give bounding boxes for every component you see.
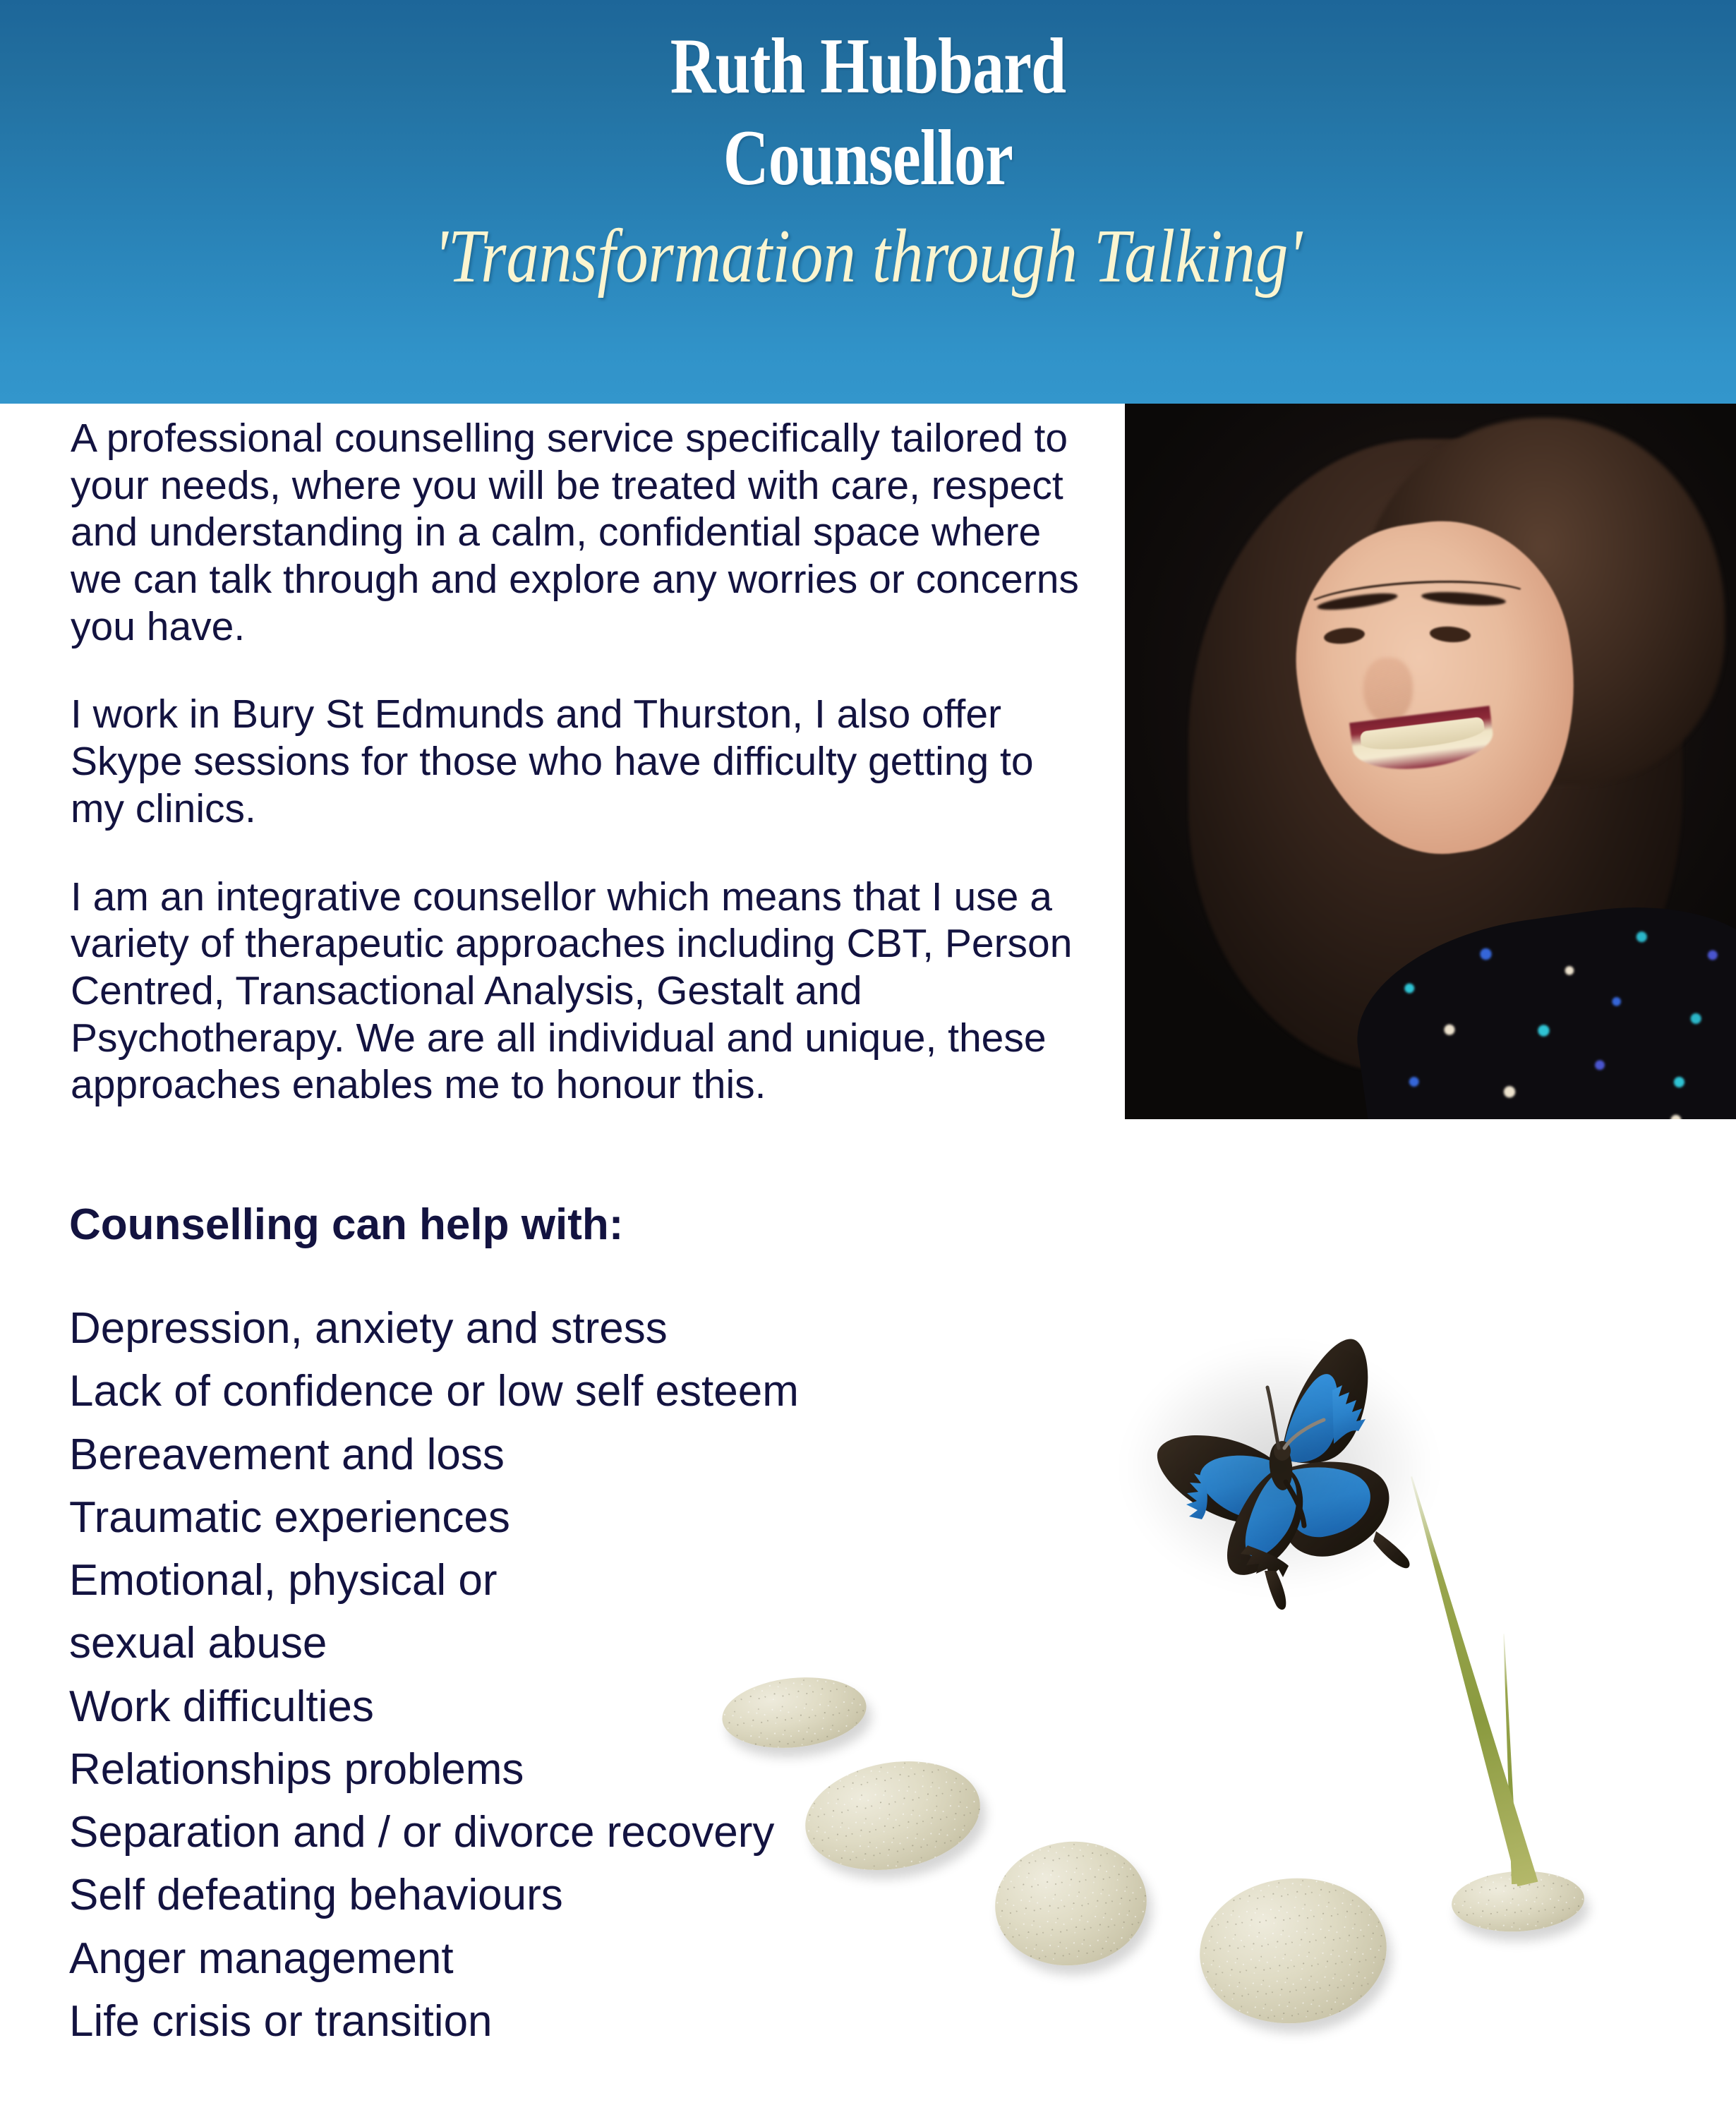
intro-paragraph-1: A professional counselling service speci… — [71, 415, 1087, 650]
page-tagline: 'Transformation through Talking' — [121, 198, 1615, 295]
grass-blade-icon — [1401, 1474, 1538, 1886]
help-item: Life crisis or transition — [69, 1990, 987, 2053]
help-item: Separation and / or divorce recovery — [69, 1801, 987, 1864]
grass-blade-icon — [1501, 1634, 1518, 1884]
page-title-name: Ruth Hubbard — [174, 0, 1562, 106]
photo-nose — [1363, 658, 1413, 723]
help-item: Relationships problems — [69, 1738, 987, 1801]
help-item: sexual abuse — [69, 1612, 987, 1675]
intro-text-block: A professional counselling service speci… — [71, 415, 1087, 1109]
stepping-stone — [1450, 1868, 1586, 1935]
stepping-stone — [1194, 1871, 1393, 2031]
butterfly-svg — [1108, 1320, 1461, 1616]
stepping-stone — [989, 1834, 1152, 1973]
help-item: Self defeating behaviours — [69, 1864, 987, 1926]
help-item: Emotional, physical or — [69, 1549, 987, 1612]
page-title-role: Counsellor — [174, 106, 1562, 198]
help-item: Depression, anxiety and stress — [69, 1297, 987, 1360]
help-item: Lack of confidence or low self esteem — [69, 1360, 987, 1423]
help-section-heading: Counselling can help with: — [69, 1203, 623, 1247]
portrait-photo: portrait-photo-of-counsellor — [1125, 404, 1736, 1119]
intro-paragraph-2: I work in Bury St Edmunds and Thurston, … — [71, 691, 1087, 832]
intro-paragraph-3: I am an integrative counsellor which mea… — [71, 874, 1087, 1109]
butterfly-icon — [1108, 1320, 1461, 1616]
help-item: Bereavement and loss — [69, 1423, 987, 1486]
help-item: Traumatic experiences — [69, 1486, 987, 1549]
butterfly-shadow — [1128, 1348, 1431, 1588]
help-item: Anger management — [69, 1927, 987, 1990]
help-item: Work difficulties — [69, 1675, 987, 1738]
page-header: Ruth Hubbard Counsellor 'Transformation … — [0, 0, 1736, 404]
help-items-list: Depression, anxiety and stress Lack of c… — [69, 1297, 987, 2053]
